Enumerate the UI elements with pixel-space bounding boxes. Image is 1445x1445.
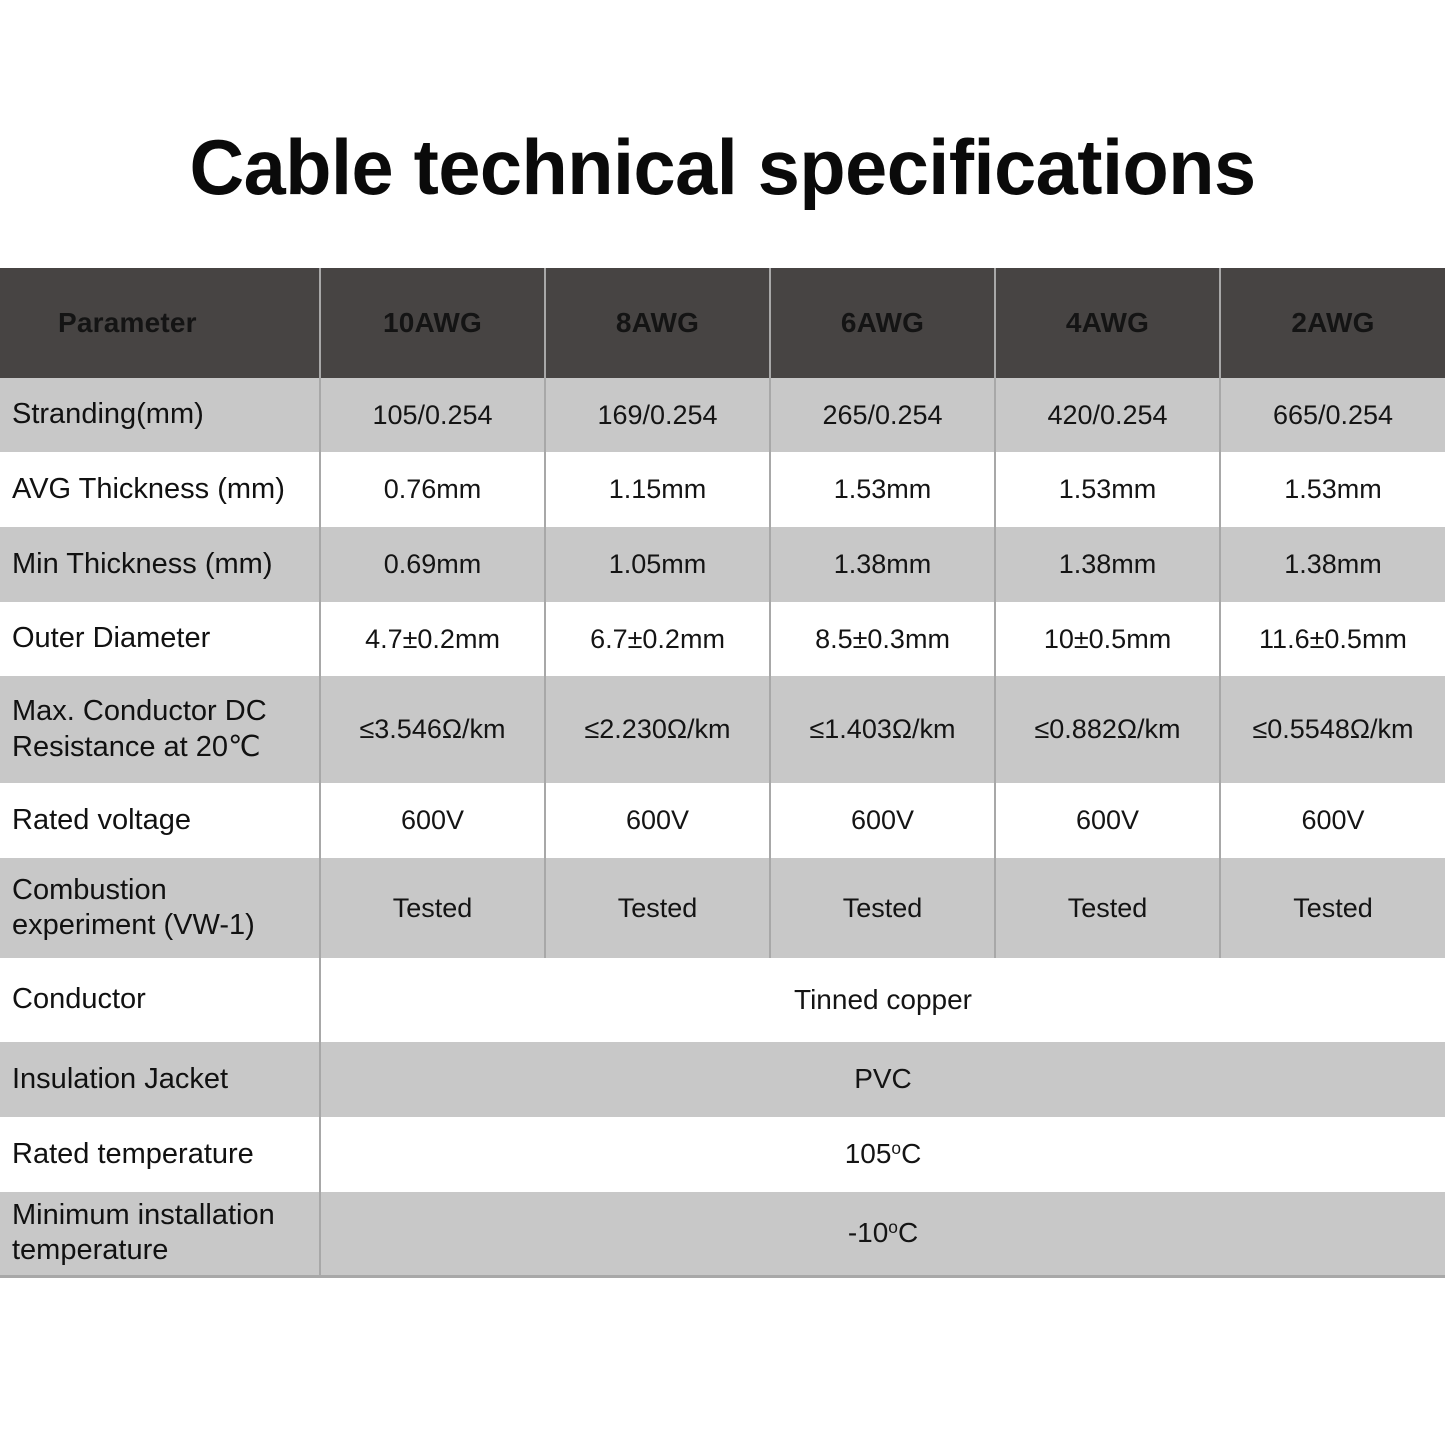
table-header: Parameter 10AWG 8AWG 6AWG 4AWG 2AWG bbox=[0, 268, 1445, 378]
column-header-8awg: 8AWG bbox=[545, 268, 770, 378]
value-cell: Tested bbox=[320, 858, 545, 958]
table-row: Min Thickness (mm)0.69mm1.05mm1.38mm1.38… bbox=[0, 527, 1445, 602]
column-header-4awg: 4AWG bbox=[995, 268, 1220, 378]
value-cell: 10±0.5mm bbox=[995, 602, 1220, 676]
value-cell: ≤0.882Ω/km bbox=[995, 676, 1220, 783]
parameter-label-cell: Combustion experiment (VW-1) bbox=[0, 858, 320, 958]
parameter-label-cell: Minimum installation temperature bbox=[0, 1192, 320, 1276]
value-cell: 105/0.254 bbox=[320, 378, 545, 452]
value-cell: 1.38mm bbox=[995, 527, 1220, 602]
table-row: Minimum installation temperature-10oC bbox=[0, 1192, 1445, 1276]
header-row: Parameter 10AWG 8AWG 6AWG 4AWG 2AWG bbox=[0, 268, 1445, 378]
value-cell: 1.53mm bbox=[770, 452, 995, 527]
table-row: Outer Diameter4.7±0.2mm6.7±0.2mm8.5±0.3m… bbox=[0, 602, 1445, 676]
parameter-label-cell: Rated voltage bbox=[0, 783, 320, 858]
cable-spec-table: Parameter 10AWG 8AWG 6AWG 4AWG 2AWG Stra… bbox=[0, 268, 1445, 1278]
value-cell: 0.76mm bbox=[320, 452, 545, 527]
column-header-6awg: 6AWG bbox=[770, 268, 995, 378]
page-title: Cable technical specifications bbox=[189, 128, 1255, 206]
value-cell: 6.7±0.2mm bbox=[545, 602, 770, 676]
value-cell: 4.7±0.2mm bbox=[320, 602, 545, 676]
parameter-label-cell: Insulation Jacket bbox=[0, 1042, 320, 1117]
parameter-label-cell: Rated temperature bbox=[0, 1117, 320, 1192]
parameter-label-cell: Outer Diameter bbox=[0, 602, 320, 676]
column-header-parameter: Parameter bbox=[0, 268, 320, 378]
value-unit: C bbox=[898, 1217, 918, 1248]
table-row: AVG Thickness (mm)0.76mm1.15mm1.53mm1.53… bbox=[0, 452, 1445, 527]
value-number: -10 bbox=[848, 1217, 888, 1248]
value-cell: Tested bbox=[1220, 858, 1445, 958]
degree-symbol: o bbox=[888, 1217, 898, 1237]
parameter-label-cell: Conductor bbox=[0, 958, 320, 1042]
table-row: Insulation JacketPVC bbox=[0, 1042, 1445, 1117]
value-cell: 0.69mm bbox=[320, 527, 545, 602]
merged-value-cell: -10oC bbox=[320, 1192, 1445, 1276]
merged-value-cell: Tinned copper bbox=[320, 958, 1445, 1042]
value-cell: 600V bbox=[995, 783, 1220, 858]
parameter-label-cell: AVG Thickness (mm) bbox=[0, 452, 320, 527]
value-cell: 600V bbox=[1220, 783, 1445, 858]
degree-symbol: o bbox=[891, 1138, 901, 1158]
value-cell: 8.5±0.3mm bbox=[770, 602, 995, 676]
merged-value-cell: 105oC bbox=[320, 1117, 1445, 1192]
value-cell: 1.53mm bbox=[1220, 452, 1445, 527]
value-cell: 1.15mm bbox=[545, 452, 770, 527]
parameter-label-cell: Min Thickness (mm) bbox=[0, 527, 320, 602]
table-row: Combustion experiment (VW-1)TestedTested… bbox=[0, 858, 1445, 958]
value-cell: 600V bbox=[545, 783, 770, 858]
value-cell: 265/0.254 bbox=[770, 378, 995, 452]
value-cell: 600V bbox=[320, 783, 545, 858]
value-cell: Tested bbox=[770, 858, 995, 958]
page-title-container: Cable technical specifications bbox=[0, 128, 1445, 206]
value-cell: 665/0.254 bbox=[1220, 378, 1445, 452]
merged-value-cell: PVC bbox=[320, 1042, 1445, 1117]
value-cell: 1.38mm bbox=[770, 527, 995, 602]
table-row: Max. Conductor DC Resistance at 20℃≤3.54… bbox=[0, 676, 1445, 783]
table-row: Rated temperature105oC bbox=[0, 1117, 1445, 1192]
value-cell: ≤0.5548Ω/km bbox=[1220, 676, 1445, 783]
value-cell: ≤1.403Ω/km bbox=[770, 676, 995, 783]
parameter-label-cell: Max. Conductor DC Resistance at 20℃ bbox=[0, 676, 320, 783]
column-header-10awg: 10AWG bbox=[320, 268, 545, 378]
value-cell: 1.53mm bbox=[995, 452, 1220, 527]
value-number: 105 bbox=[845, 1138, 892, 1169]
value-cell: Tested bbox=[545, 858, 770, 958]
column-header-2awg: 2AWG bbox=[1220, 268, 1445, 378]
value-cell: ≤3.546Ω/km bbox=[320, 676, 545, 783]
value-cell: Tested bbox=[995, 858, 1220, 958]
value-cell: 1.38mm bbox=[1220, 527, 1445, 602]
value-cell: 1.05mm bbox=[545, 527, 770, 602]
spec-sheet-page: Cable technical specifications Parameter… bbox=[0, 0, 1445, 1445]
value-cell: ≤2.230Ω/km bbox=[545, 676, 770, 783]
table-row: Rated voltage600V600V600V600V600V bbox=[0, 783, 1445, 858]
value-cell: 600V bbox=[770, 783, 995, 858]
table-row: Stranding(mm)105/0.254169/0.254265/0.254… bbox=[0, 378, 1445, 452]
value-unit: C bbox=[901, 1138, 921, 1169]
table-row: ConductorTinned copper bbox=[0, 958, 1445, 1042]
parameter-label-cell: Stranding(mm) bbox=[0, 378, 320, 452]
value-cell: 420/0.254 bbox=[995, 378, 1220, 452]
value-cell: 169/0.254 bbox=[545, 378, 770, 452]
value-cell: 11.6±0.5mm bbox=[1220, 602, 1445, 676]
table-body: Stranding(mm)105/0.254169/0.254265/0.254… bbox=[0, 378, 1445, 1276]
